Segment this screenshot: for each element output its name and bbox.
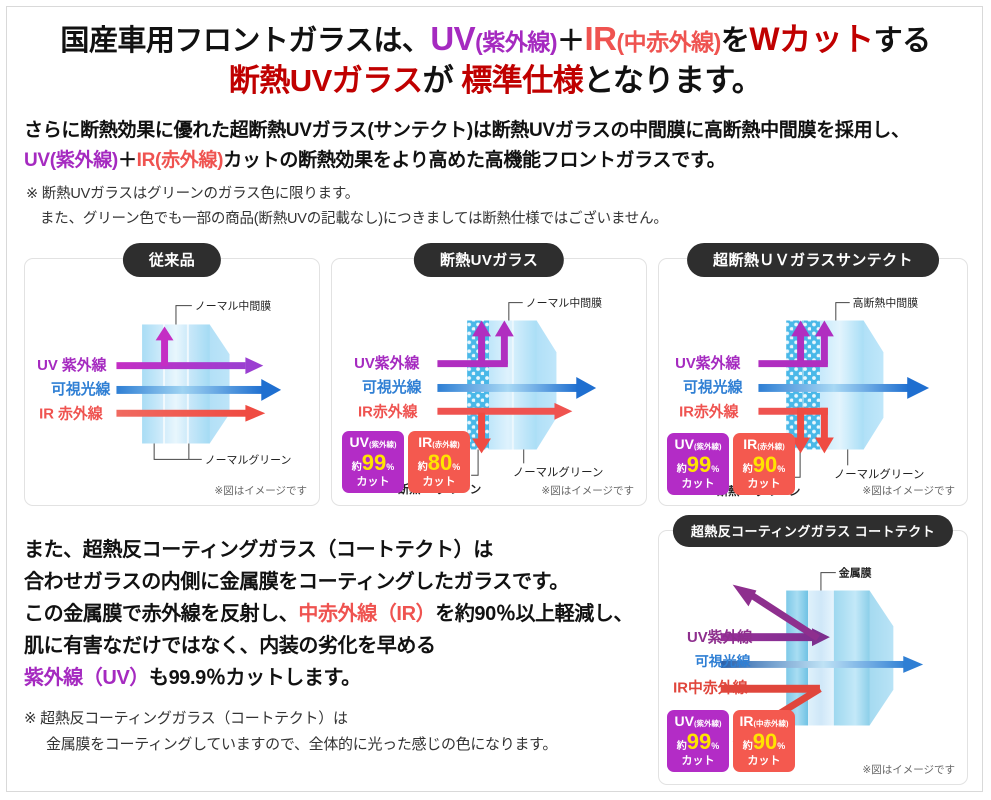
- ray-label-visible: 可視光線: [362, 378, 422, 396]
- panel-suntect-footer: ※図はイメージです: [862, 483, 955, 498]
- panel-conventional-diagram: ノーマル中間膜 ノーマルグリーン UV 紫外線 可視光線 IR 赤外線: [25, 259, 319, 505]
- ray-label-ir: IR赤外線: [679, 403, 739, 421]
- bottom-line-3: この金属膜で赤外線を反射し、中赤外線（IR）を約90％以上軽減し、: [24, 598, 644, 630]
- callout-normal-green: ノーマルグリーン: [513, 465, 604, 479]
- ray-label-uv: UV紫外線: [354, 354, 419, 372]
- bottom-line-3-b: を約90％以上軽減し、: [435, 603, 633, 625]
- badge-ir: IR(赤外線) 約80% カット: [408, 431, 470, 493]
- panel-suntect-title: 超断熱ＵＶガラスサンテクト: [687, 243, 939, 277]
- bottom-description: また、超熱反コーティングガラス（コートテクト）は 合わせガラスの内側に金属膜をコ…: [24, 534, 644, 694]
- ray-label-ir: IR赤外線: [358, 403, 418, 421]
- bottom-line-3-a: この金属膜で赤外線を反射し、: [24, 603, 298, 625]
- headline-line1-mid: を: [721, 25, 750, 57]
- panel-conventional: 従来品: [24, 258, 320, 506]
- badge-ir: IR(赤外線) 約90% カット: [733, 433, 795, 495]
- panel-conventional-footer: ※図はイメージです: [214, 483, 307, 498]
- ray-label-uv: UV紫外線: [675, 354, 740, 372]
- top-note-line-2: また、グリーン色でも一部の商品(断熱UVの記載なし)につきましては断熱仕様ではご…: [26, 207, 976, 232]
- panel-conventional-title: 従来品: [123, 243, 221, 277]
- callout-normal-interlayer: ノーマル中間膜: [526, 297, 602, 310]
- ray-label-uv: UV紫外線: [687, 628, 753, 646]
- intro-plus: ＋: [118, 150, 137, 171]
- bottom-line-2: 合わせガラスの内側に金属膜をコーティングしたガラスです。: [24, 566, 644, 598]
- headline-line1-suffix: する: [874, 25, 931, 57]
- headline-wcut: Wカット: [749, 21, 873, 57]
- intro-line-1: さらに断熱効果に優れた超断熱UVガラス(サンテクト)は断熱UVガラスの中間膜に高…: [24, 116, 974, 146]
- bottom-note-line-2: 金属膜をコーティングしていますので、全体的に光った感じの色になります。: [24, 732, 644, 758]
- headline-line1-prefix: 国産車用フロントガラスは、: [60, 25, 430, 57]
- bottom-line-4: 肌に有害なだけではなく、内装の劣化を早める: [24, 630, 644, 662]
- bottom-note-line-1: ※ 超熱反コーティングガラス（コートテクト）は: [24, 710, 348, 727]
- headline-line2-standard: 標準仕様: [461, 63, 583, 98]
- ray-label-uv: UV 紫外線: [37, 356, 106, 374]
- intro-ir-term: IR(赤外線): [137, 150, 224, 171]
- panel-coatect-badges: UV(紫外線) 約99% カット IR(中赤外線) 約90% カット: [667, 710, 795, 772]
- panel-uv-cut-badges: UV(紫外線) 約99% カット IR(赤外線) 約80% カット: [342, 431, 470, 493]
- callout-normal-green: ノーマルグリーン: [205, 452, 292, 466]
- top-notes: ※ 断熱UVガラスはグリーンのガラス色に限ります。 また、グリーン色でも一部の商…: [26, 182, 976, 233]
- headline-line2-suffix: となります。: [583, 63, 762, 98]
- ray-label-ir: IR中赤外線: [673, 679, 748, 697]
- ray-label-ir: IR 赤外線: [39, 405, 103, 423]
- bottom-notes: ※ 超熱反コーティングガラス（コートテクト）は 金属膜をコーティングしていますの…: [24, 706, 644, 759]
- headline-line2-product: 断熱UVガラス: [229, 63, 423, 98]
- panel-suntect: 超断熱ＵＶガラスサンテクト 高断熱中間膜: [658, 258, 968, 506]
- badge-uv: UV(紫外線) 約99% カット: [667, 710, 729, 772]
- bottom-uv-term: 紫外線（UV）: [24, 667, 149, 689]
- panel-uv-cut-footer: ※図はイメージです: [541, 483, 634, 498]
- page-title: 国産車用フロントガラスは、UV(紫外線)＋IR(中赤外線)をWカットする 断熱U…: [0, 18, 991, 101]
- intro-line-2: UV(紫外線)＋IR(赤外線)カットの断熱効果をより高めた高機能フロントガラスで…: [24, 146, 974, 176]
- panel-uv-cut: 断熱UVガラス ノーマル中間膜: [331, 258, 647, 506]
- callout-high-interlayer: 高断熱中間膜: [853, 296, 919, 310]
- top-note-line-1: ※ 断熱UVガラスはグリーンのガラス色に限ります。: [26, 186, 359, 202]
- bottom-line-5-b: も99.9％カットします。: [149, 667, 361, 689]
- headline-line2-ga: が: [423, 63, 462, 98]
- bottom-ir-term: 中赤外線（IR）: [298, 603, 435, 625]
- panel-uv-cut-title: 断熱UVガラス: [414, 243, 564, 277]
- bottom-line-1: また、超熱反コーティングガラス（コートテクト）は: [24, 534, 644, 566]
- panel-coatect-title: 超熱反コーティングガラス コートテクト: [673, 515, 953, 547]
- headline-plus: ＋: [557, 25, 585, 56]
- intro-line-2-rest: カットの断熱効果をより高めた高機能フロントガラスです。: [223, 150, 725, 171]
- headline-ir-term: IR(中赤外線): [585, 20, 721, 57]
- intro-paragraph: さらに断熱効果に優れた超断熱UVガラス(サンテクト)は断熱UVガラスの中間膜に高…: [24, 116, 974, 176]
- intro-uv-term: UV(紫外線): [24, 150, 118, 171]
- badge-uv: UV(紫外線) 約99% カット: [667, 433, 729, 495]
- ray-label-visible: 可視光線: [683, 378, 743, 396]
- bottom-line-5: 紫外線（UV）も99.9％カットします。: [24, 662, 644, 694]
- ray-label-visible: 可視光線: [51, 380, 111, 398]
- callout-normal-interlayer: ノーマル中間膜: [195, 300, 271, 313]
- ray-label-visible: 可視光線: [695, 653, 751, 669]
- callout-metal-film: 金属膜: [839, 566, 872, 580]
- badge-uv: UV(紫外線) 約99% カット: [342, 431, 404, 493]
- panel-suntect-badges: UV(紫外線) 約99% カット IR(赤外線) 約90% カット: [667, 433, 795, 495]
- headline-uv-term: UV(紫外線): [430, 20, 557, 57]
- panel-coatect-footer: ※図はイメージです: [862, 762, 955, 777]
- panel-coatect: 超熱反コーティングガラス コートテクト: [658, 530, 968, 785]
- badge-ir: IR(中赤外線) 約90% カット: [733, 710, 795, 772]
- callout-normal-green: ノーマルグリーン: [834, 467, 925, 481]
